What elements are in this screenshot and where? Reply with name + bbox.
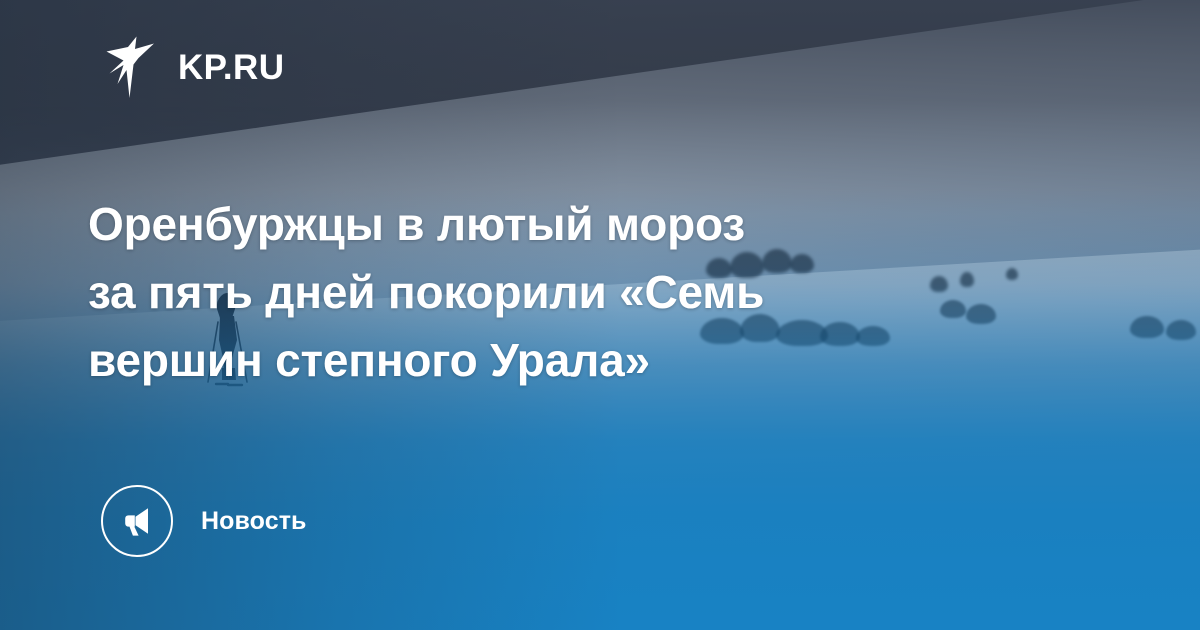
megaphone-badge-circle [101, 485, 173, 557]
headline-line-3: вершин степного Урала» [88, 326, 988, 394]
brand-lockup[interactable]: KP.RU [104, 34, 284, 100]
share-card: KP.RU Оренбуржцы в лютый мороз за пять д… [0, 0, 1200, 630]
page-title: Оренбуржцы в лютый мороз за пять дней по… [88, 190, 988, 394]
status-badge[interactable]: Новость [101, 485, 307, 557]
headline-line-2: за пять дней покорили «Семь [88, 258, 988, 326]
swallow-bird-icon [104, 34, 160, 100]
headline-line-1: Оренбуржцы в лютый мороз [88, 190, 988, 258]
megaphone-icon [119, 503, 155, 539]
card-content: KP.RU Оренбуржцы в лютый мороз за пять д… [0, 0, 1200, 630]
badge-label: Новость [201, 509, 307, 534]
brand-name: KP.RU [178, 50, 284, 85]
